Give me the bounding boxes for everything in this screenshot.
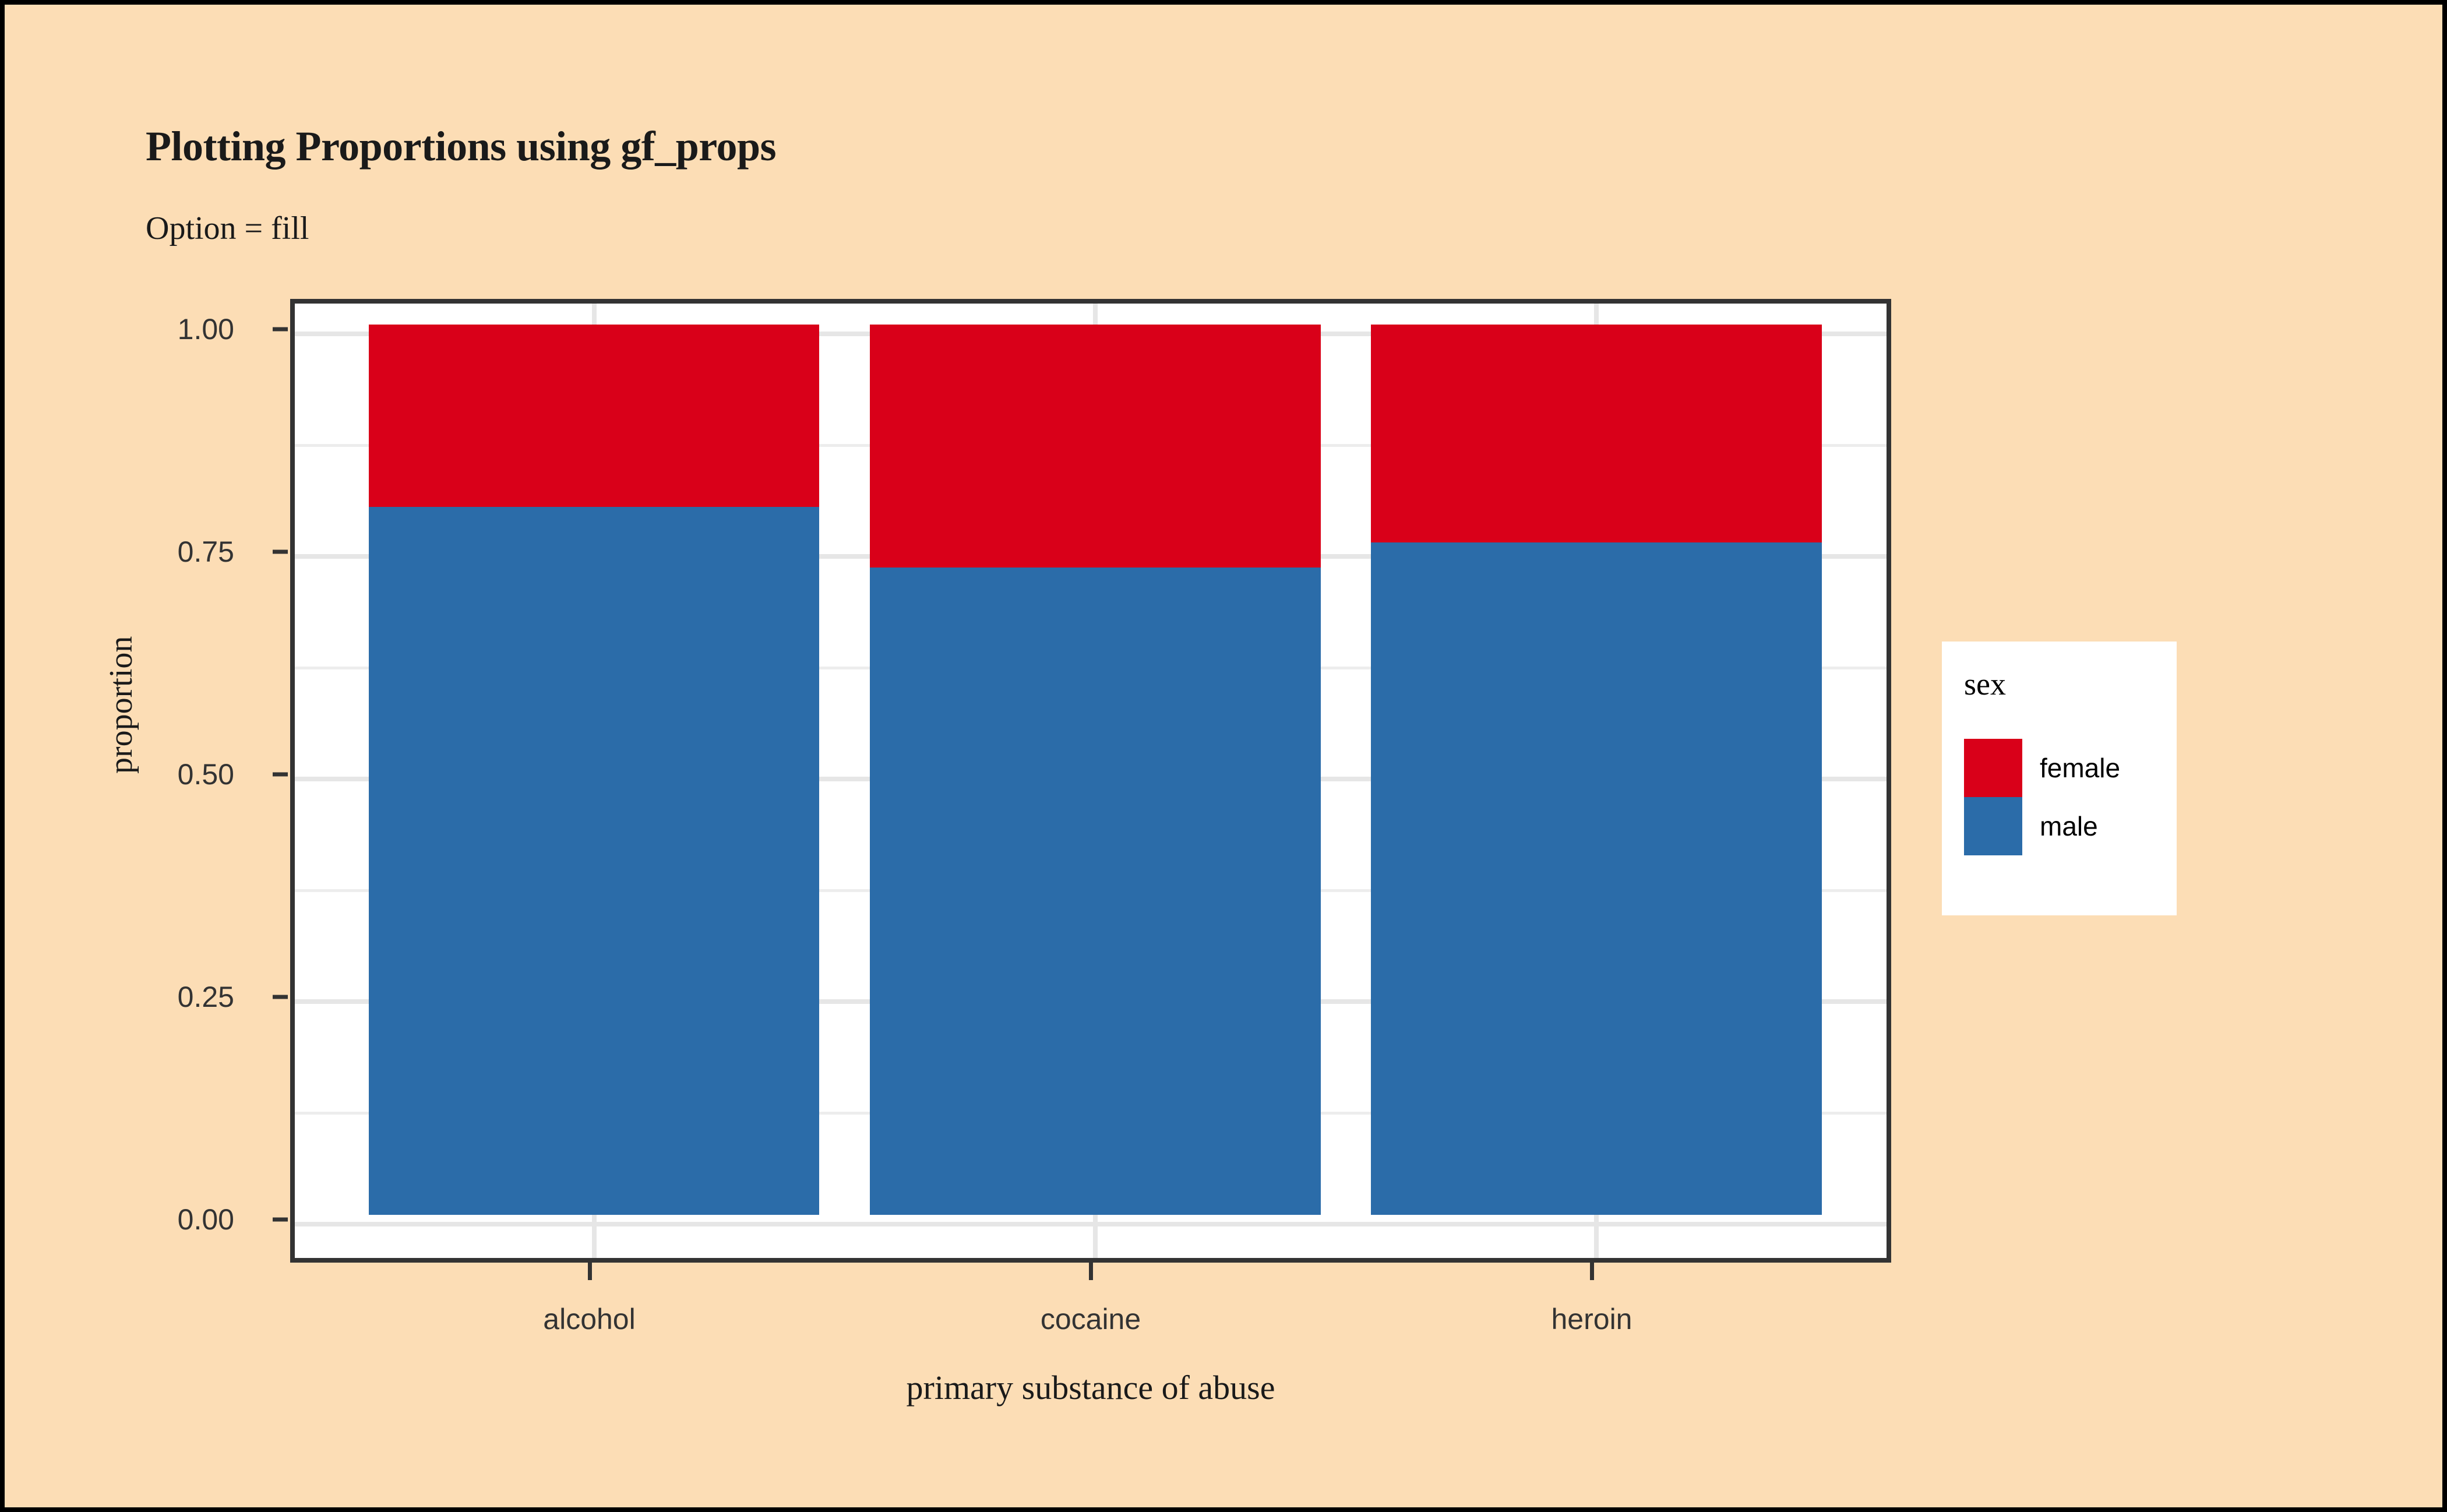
bar-stack-cocaine[interactable]: [870, 325, 1321, 1215]
y-tick-mark: [273, 1218, 288, 1222]
bar-segment-male[interactable]: [1371, 542, 1822, 1215]
page-title: Plotting Proportions using gf_props: [146, 122, 776, 171]
x-tick-mark: [1089, 1263, 1093, 1280]
y-tick-label: 0.75: [83, 535, 234, 569]
legend-title: sex: [1964, 666, 2006, 702]
x-tick-label-alcohol: alcohol: [543, 1302, 635, 1336]
x-tick-label-cocaine: cocaine: [1041, 1302, 1141, 1336]
gridline-horizontal-major: [295, 1222, 1887, 1226]
y-tick-mark: [273, 995, 288, 999]
x-axis-title: primary substance of abuse: [290, 1368, 1891, 1407]
legend-label-female: female: [2040, 752, 2120, 784]
bar-stack-alcohol[interactable]: [369, 325, 819, 1215]
plot-subtitle: Option = fill: [146, 210, 309, 247]
legend-entry-female[interactable]: female: [1964, 739, 2162, 797]
legend: sex femalemale: [1942, 642, 2177, 915]
figure-canvas: Plotting Proportions using gf_props Opti…: [0, 0, 2447, 1512]
y-tick-label: 0.00: [83, 1203, 234, 1236]
y-tick-label: 1.00: [83, 312, 234, 346]
y-tick-mark: [273, 773, 288, 777]
bar-segment-female[interactable]: [369, 325, 819, 507]
y-axis-title: proportion: [103, 636, 140, 774]
plot-panel: [290, 299, 1891, 1263]
x-tick-mark: [588, 1263, 592, 1280]
bar-segment-female[interactable]: [870, 325, 1321, 568]
legend-swatch-male: [1964, 797, 2022, 855]
y-tick-mark: [273, 550, 288, 554]
bar-segment-male[interactable]: [369, 507, 819, 1215]
panel-inner: [295, 304, 1887, 1258]
legend-swatch-female: [1964, 739, 2022, 797]
y-tick-label: 0.25: [83, 980, 234, 1014]
bar-stack-heroin[interactable]: [1371, 325, 1822, 1215]
bar-segment-female[interactable]: [1371, 325, 1822, 542]
y-tick-mark: [273, 327, 288, 332]
x-tick-mark: [1590, 1263, 1594, 1280]
legend-entry-male[interactable]: male: [1964, 797, 2162, 855]
x-tick-label-heroin: heroin: [1552, 1302, 1632, 1336]
bar-segment-male[interactable]: [870, 568, 1321, 1215]
legend-label-male: male: [2040, 810, 2098, 842]
